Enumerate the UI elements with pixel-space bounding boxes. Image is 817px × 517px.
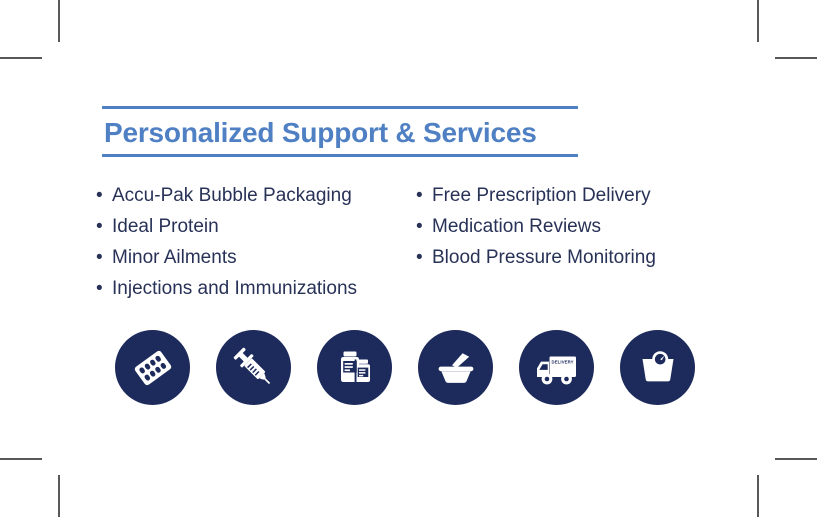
- list-item: • Accu-Pak Bubble Packaging: [96, 180, 416, 211]
- list-item-label: Injections and Immunizations: [112, 273, 357, 304]
- delivery-truck-icon: DELIVERY: [533, 346, 581, 390]
- list-item-label: Ideal Protein: [112, 211, 219, 242]
- crop-mark-bottom-right-horizontal: [775, 458, 817, 460]
- bullet-icon: •: [96, 273, 112, 304]
- blister-pack-icon: [130, 345, 176, 391]
- slide-canvas: Personalized Support & Services • Accu-P…: [0, 0, 817, 517]
- crop-mark-bottom-left-horizontal: [0, 458, 42, 460]
- icon-badge-mortar-pestle: [418, 330, 493, 405]
- page-title: Personalized Support & Services: [102, 109, 578, 154]
- bullet-icon: •: [96, 242, 112, 273]
- list-item-label: Free Prescription Delivery: [432, 180, 651, 211]
- list-item: • Minor Ailments: [96, 242, 416, 273]
- bullet-icon: •: [96, 211, 112, 242]
- crop-mark-bottom-left-vertical: [58, 475, 60, 517]
- crop-mark-top-right-horizontal: [775, 57, 817, 59]
- bullet-icon: •: [416, 242, 432, 273]
- list-item-label: Medication Reviews: [432, 211, 601, 242]
- crop-mark-top-left-horizontal: [0, 57, 42, 59]
- list-item: • Medication Reviews: [416, 211, 736, 242]
- services-lists: • Accu-Pak Bubble Packaging • Ideal Prot…: [96, 180, 736, 304]
- crop-mark-bottom-right-vertical: [757, 475, 759, 517]
- services-list-left: • Accu-Pak Bubble Packaging • Ideal Prot…: [96, 180, 416, 304]
- list-item: • Ideal Protein: [96, 211, 416, 242]
- truck-delivery-label: DELIVERY: [551, 359, 573, 364]
- icon-badge-weight-scale: [620, 330, 695, 405]
- icon-badge-blister-pack: [115, 330, 190, 405]
- title-rule-bottom: [102, 154, 578, 157]
- bullet-icon: •: [416, 180, 432, 211]
- pill-bottles-icon: [333, 346, 377, 390]
- list-item: • Blood Pressure Monitoring: [416, 242, 736, 273]
- list-item-label: Minor Ailments: [112, 242, 237, 273]
- bullet-icon: •: [96, 180, 112, 211]
- list-item-label: Accu-Pak Bubble Packaging: [112, 180, 352, 211]
- bullet-icon: •: [416, 211, 432, 242]
- list-item-label: Blood Pressure Monitoring: [432, 242, 656, 273]
- icon-badge-syringe: [216, 330, 291, 405]
- weight-scale-icon: [636, 346, 680, 390]
- services-list-right: • Free Prescription Delivery • Medicatio…: [416, 180, 736, 273]
- icon-badge-pill-bottles: [317, 330, 392, 405]
- crop-mark-top-right-vertical: [757, 0, 759, 42]
- list-item: • Free Prescription Delivery: [416, 180, 736, 211]
- service-icon-row: DELIVERY: [115, 330, 695, 405]
- list-item: • Injections and Immunizations: [96, 273, 416, 304]
- icon-badge-delivery-truck: DELIVERY: [519, 330, 594, 405]
- syringe-icon: [230, 344, 278, 392]
- mortar-pestle-icon: [433, 345, 479, 391]
- crop-mark-top-left-vertical: [58, 0, 60, 42]
- heading-block: Personalized Support & Services: [102, 106, 578, 157]
